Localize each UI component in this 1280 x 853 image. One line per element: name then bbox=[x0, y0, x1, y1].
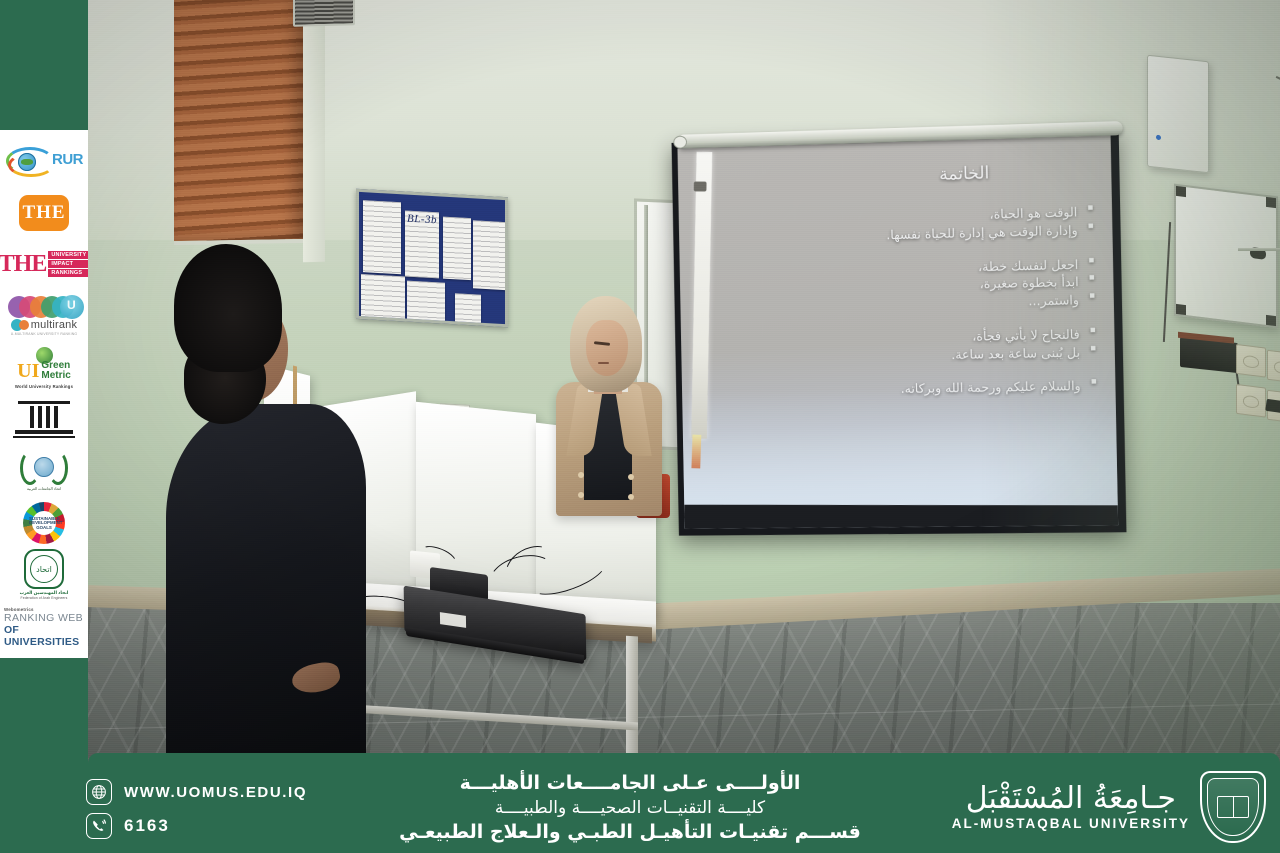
impact-ranking-lines: UNIVERSITY IMPACT RANKINGS bbox=[48, 251, 88, 277]
wall-shadow bbox=[980, 0, 1280, 763]
webometrics-line-2: OF UNIVERSITIES bbox=[4, 624, 84, 648]
globe-icon bbox=[18, 153, 36, 171]
pillar bbox=[30, 406, 34, 428]
brand-english: AL-MUSTAQBAL UNIVERSITY bbox=[952, 816, 1190, 831]
greenmetric-line-2: Metric bbox=[41, 371, 70, 381]
crest-inner bbox=[1207, 778, 1259, 836]
seated-student bbox=[174, 244, 364, 763]
footer-bar: WWW.UOMUS.EDU.IQ 6163 الأولــــى عـلى ال… bbox=[0, 763, 1280, 853]
phone-row[interactable]: 6163 bbox=[86, 813, 307, 839]
bulletin-paper bbox=[443, 217, 471, 281]
impact-line-3: RANKINGS bbox=[48, 269, 88, 277]
bulletin-paper bbox=[363, 200, 401, 274]
presenter-mouth bbox=[598, 362, 609, 364]
sidebar-logo-greenmetric: UI Green Metric World University Ranking… bbox=[2, 343, 86, 393]
footer-arabic-line-3: قســـم تقنيـات التأهيـل الطبـي والـعلاج … bbox=[330, 820, 930, 846]
the-impact-logo-icon: THE UNIVERSITY IMPACT RANKINGS bbox=[0, 251, 88, 278]
cord-clip bbox=[694, 181, 707, 191]
window-frame bbox=[303, 0, 325, 262]
pillar-base bbox=[15, 430, 73, 434]
seated-student-hair bbox=[174, 244, 282, 372]
multirank-wordmark-row: multirank bbox=[11, 319, 77, 331]
open-book-icon bbox=[1217, 796, 1249, 818]
bulletin-paper bbox=[407, 281, 445, 327]
footer-arabic-line-2: كليــــة التقنيــات الصحيــــة والطبيـــ… bbox=[330, 797, 930, 820]
sidebar-logo-fae: اتحاد اتحاد المهندسين العرب Federation o… bbox=[2, 549, 86, 600]
fae-calligraphy-icon: اتحاد bbox=[30, 555, 58, 583]
footer-notch bbox=[88, 753, 1280, 767]
hanging-cord-tip bbox=[691, 435, 701, 469]
pillar bbox=[38, 406, 42, 428]
sidebar-logo-sdg: SUSTAINABLE DEVELOPMENT GOALS bbox=[2, 498, 86, 548]
sidebar-logo-rur: RUR bbox=[2, 136, 86, 186]
student-presenter bbox=[550, 296, 672, 516]
screenshot-frame: BL-3b الخاتمة الوقت هو الحياة، bbox=[0, 0, 1280, 853]
desk-leg bbox=[626, 636, 638, 757]
contact-info: WWW.UOMUS.EDU.IQ 6163 bbox=[86, 779, 307, 839]
greenmetric-wordmark-row: UI Green Metric bbox=[17, 360, 71, 383]
window-blinds bbox=[174, 0, 310, 245]
sidebar-logo-the: THE bbox=[2, 188, 86, 238]
globe-icon bbox=[34, 457, 54, 477]
bulletin-handwritten-note: BL-3b bbox=[407, 213, 437, 227]
bulletin-paper bbox=[455, 293, 481, 327]
classroom-photo: BL-3b الخاتمة الوقت هو الحياة، bbox=[88, 0, 1280, 763]
ui-greenmetric-logo-icon: UI Green Metric World University Ranking… bbox=[15, 347, 73, 389]
pillar-base-lower bbox=[13, 436, 75, 438]
rur-wordmark: RUR bbox=[52, 151, 83, 168]
the-impact-wordmark: THE bbox=[0, 251, 46, 278]
university-brand: جـامِعَةُ المُسْتَقْبَل AL-MUSTAQBAL UNI… bbox=[952, 771, 1266, 843]
the-wordmark: THE bbox=[22, 202, 65, 224]
brand-arabic: جـامِعَةُ المُسْتَقْبَل bbox=[952, 783, 1190, 815]
aaru-subtitle: اتحاد الجامعات العربية bbox=[27, 486, 61, 491]
website-label: WWW.UOMUS.EDU.IQ bbox=[124, 784, 307, 801]
multirank-circles bbox=[8, 296, 80, 318]
federation-arab-engineers-logo-icon: اتحاد اتحاد المهندسين العرب Federation o… bbox=[20, 549, 69, 600]
wreath-icon bbox=[20, 451, 68, 485]
multirank-u-badge bbox=[60, 295, 84, 319]
rur-logo-icon: RUR bbox=[4, 143, 84, 179]
multirank-wordmark: multirank bbox=[31, 319, 77, 331]
greenmetric-subtitle: World University Rankings bbox=[15, 384, 73, 389]
sidebar-logo-aaru: اتحاد الجامعات العربية bbox=[2, 446, 86, 496]
ui-wordmark: UI bbox=[17, 360, 39, 383]
greenmetric-lines: Green Metric bbox=[41, 361, 70, 381]
presenter-face bbox=[586, 320, 628, 376]
coat-button bbox=[578, 492, 584, 498]
fae-badge: اتحاد bbox=[24, 549, 64, 589]
seated-student-body bbox=[166, 404, 366, 763]
roller-end-cap bbox=[673, 136, 687, 149]
sidebar-logo-institution bbox=[2, 394, 86, 444]
bulletin-paper bbox=[361, 274, 405, 324]
institution-pillars-icon bbox=[13, 401, 75, 438]
fae-subtitle-english: Federation of Arab Engineers bbox=[21, 596, 68, 600]
sdg-wheel-icon: SUSTAINABLE DEVELOPMENT GOALS bbox=[23, 502, 65, 544]
globe-www-icon bbox=[86, 779, 112, 805]
multirank-subtitle: U-MULTIRANK UNIVERSITY RANKING bbox=[11, 332, 78, 336]
coat-button bbox=[628, 474, 634, 480]
pillar bbox=[46, 406, 50, 428]
bulletin-paper bbox=[473, 220, 507, 290]
accreditation-logo-sidebar: RUR THE THE UNIVERSITY IMPACT RANKINGS bbox=[0, 130, 88, 658]
bulletin-board: BL-3b bbox=[356, 189, 508, 327]
webometrics-logo-icon: Webometrics RANKING WEB OF UNIVERSITIES bbox=[4, 607, 84, 648]
phone-ring-icon bbox=[86, 813, 112, 839]
phone-label: 6163 bbox=[124, 816, 170, 836]
the-logo-icon: THE bbox=[19, 195, 69, 231]
pillar-row bbox=[30, 406, 58, 428]
sidebar-logo-the-impact: THE UNIVERSITY IMPACT RANKINGS bbox=[2, 239, 86, 289]
coat-button bbox=[628, 494, 634, 500]
webometrics-line-1: RANKING WEB bbox=[4, 612, 83, 624]
sdg-label: SUSTAINABLE DEVELOPMENT GOALS bbox=[29, 517, 59, 532]
impact-line-2: IMPACT bbox=[48, 260, 88, 268]
university-crest-icon bbox=[1200, 771, 1266, 843]
multirank-logo-icon: multirank U-MULTIRANK UNIVERSITY RANKING bbox=[8, 296, 80, 336]
sidebar-logo-multirank: multirank U-MULTIRANK UNIVERSITY RANKING bbox=[2, 291, 86, 341]
pillar bbox=[54, 406, 58, 428]
pillar-top-beam bbox=[18, 401, 70, 404]
arab-universities-logo-icon: اتحاد الجامعات العربية bbox=[20, 451, 68, 491]
ceiling-vent-icon bbox=[293, 0, 355, 27]
brand-text: جـامِعَةُ المُسْتَقْبَل AL-MUSTAQBAL UNI… bbox=[952, 783, 1190, 832]
multirank-dot bbox=[19, 320, 29, 330]
footer-arabic-line-1: الأولــــى عـلى الجامــــعات الأهليـــة bbox=[330, 771, 930, 797]
coat-button bbox=[578, 472, 584, 478]
website-row[interactable]: WWW.UOMUS.EDU.IQ bbox=[86, 779, 307, 805]
footer-arabic-block: الأولــــى عـلى الجامــــعات الأهليـــة … bbox=[330, 771, 930, 845]
sidebar-logo-webometrics: Webometrics RANKING WEB OF UNIVERSITIES bbox=[2, 602, 86, 652]
impact-line-1: UNIVERSITY bbox=[48, 251, 88, 259]
